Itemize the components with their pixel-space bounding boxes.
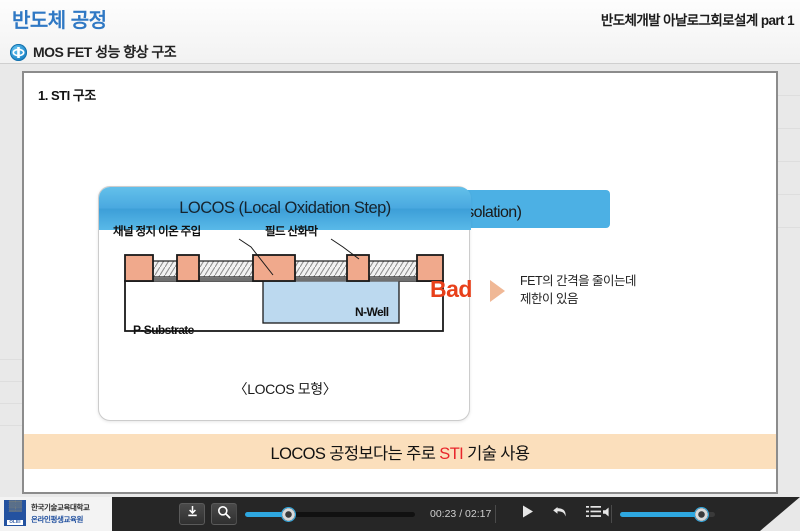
logo-wordmark: 한국기술교육대학교 온라인평생교육원 — [31, 502, 90, 525]
slide-canvas: 1. STI 구조 STI 구조(Shallow Trench Isolatio… — [22, 71, 778, 494]
play-icon — [520, 504, 535, 524]
triangle-right-icon — [490, 280, 505, 302]
volume-slider[interactable] — [620, 512, 715, 517]
page-header: 반도체 공정 반도체개발 아날로그회로설계 part 1 MOS FET 성능 … — [0, 0, 800, 64]
locos-card: LOCOS (Local Oxidation Step) — [98, 186, 470, 421]
bad-label: Bad — [430, 276, 472, 303]
summary-suffix: 기술 사용 — [463, 445, 529, 463]
search-button[interactable] — [211, 503, 237, 525]
player-bar: ▒▒ OLEI 한국기술교육대학교 온라인평생교육원 00:23 / 02:17 — [0, 497, 800, 531]
logo-emblem-icon: ▒▒ OLEI — [4, 500, 26, 526]
label-n-well: N-Well — [355, 305, 389, 319]
bad-callout: Bad FET의 간격을 줄이는데 제한이 있음 — [430, 272, 730, 322]
seek-handle[interactable] — [281, 507, 296, 522]
course-title: 반도체개발 아날로그회로설계 part 1 — [601, 9, 794, 29]
logo-line-2: 온라인평생교육원 — [31, 514, 90, 525]
bad-description-line2: 제한이 있음 — [520, 290, 636, 308]
locos-header-label: LOCOS (Local Oxidation Step) — [179, 199, 391, 218]
search-icon — [217, 505, 231, 524]
summary-prefix: LOCOS 공정보다는 주로 — [271, 445, 440, 463]
locos-model-caption: 〈LOCOS 모형〉 — [99, 379, 471, 399]
download-icon — [186, 505, 199, 523]
target-bullet-icon — [10, 44, 27, 61]
seek-bar[interactable] — [245, 512, 415, 517]
volume-handle[interactable] — [694, 507, 709, 522]
summary-text: LOCOS 공정보다는 주로 STI 기술 사용 — [271, 440, 530, 464]
section-subtitle-label: MOS FET 성능 향상 구조 — [33, 42, 176, 62]
divider — [236, 505, 237, 523]
speaker-icon — [602, 505, 614, 523]
section-subtitle-row: MOS FET 성능 향상 구조 — [10, 42, 176, 62]
summary-accent: STI — [439, 445, 463, 463]
label-channel-stop-implant: 채널 정지 이온 주입 — [113, 223, 201, 239]
replay-arrow-icon — [552, 504, 568, 524]
volume-fill — [620, 512, 702, 517]
time-display: 00:23 / 02:17 — [430, 508, 491, 520]
divider — [495, 505, 496, 523]
volume-button[interactable] — [600, 505, 616, 523]
download-button[interactable] — [179, 503, 205, 525]
institution-logo: ▒▒ OLEI 한국기술교육대학교 온라인평생교육원 — [4, 500, 90, 526]
label-field-oxide: 필드 산화막 — [265, 223, 318, 239]
bad-description-line1: FET의 간격을 줄이는데 — [520, 272, 636, 290]
page-title: 반도체 공정 — [12, 4, 107, 33]
replay-button[interactable] — [549, 505, 571, 523]
locos-cross-section-diagram: 채널 정지 이온 주입 필드 산화막 N-Well P-Substrate — [115, 235, 455, 375]
summary-band: LOCOS 공정보다는 주로 STI 기술 사용 — [24, 434, 776, 469]
list-icon — [586, 505, 601, 523]
logo-emblem-text: OLEI — [7, 520, 22, 526]
logo-emblem-glyph: ▒▒ — [9, 502, 21, 512]
slide-heading: 1. STI 구조 — [38, 85, 96, 104]
label-p-substrate: P-Substrate — [133, 323, 194, 337]
logo-line-1: 한국기술교육대학교 — [31, 502, 90, 513]
play-button[interactable] — [516, 505, 538, 523]
bad-description: FET의 간격을 줄이는데 제한이 있음 — [520, 272, 636, 308]
